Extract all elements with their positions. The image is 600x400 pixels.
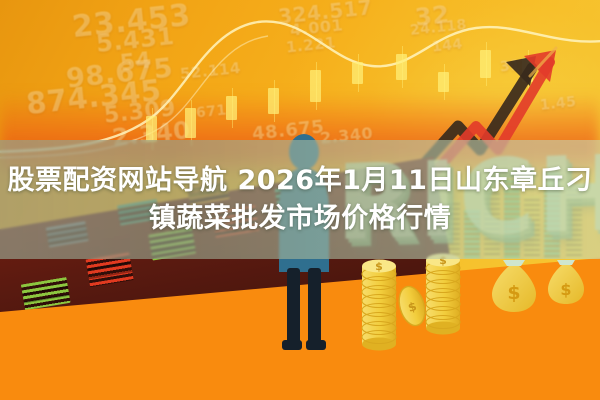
coin-stack-mid: $	[426, 254, 460, 335]
money-bag-small: $	[548, 260, 584, 304]
headline-line-1: 股票配资网站导航 2026年1月11日山东章丘刁	[8, 163, 593, 199]
svg-text:$: $	[560, 280, 571, 299]
money-illustration: $ $ $ $	[300, 252, 600, 362]
board-tile	[21, 277, 71, 310]
coin-single: $	[395, 283, 429, 328]
headline-line-2: 镇蔬菜批发市场价格行情	[149, 201, 452, 237]
money-bag-large: $	[492, 260, 536, 312]
svg-text:$: $	[507, 282, 520, 304]
svg-text:$: $	[375, 260, 383, 273]
banner-image: 23.453324.517325.4314.00124.118541.22114…	[0, 0, 600, 400]
coin-stack-tall: $	[362, 260, 396, 351]
page-title: 股票配资网站导航 2026年1月11日山东章丘刁 镇蔬菜批发市场价格行情	[0, 142, 600, 257]
